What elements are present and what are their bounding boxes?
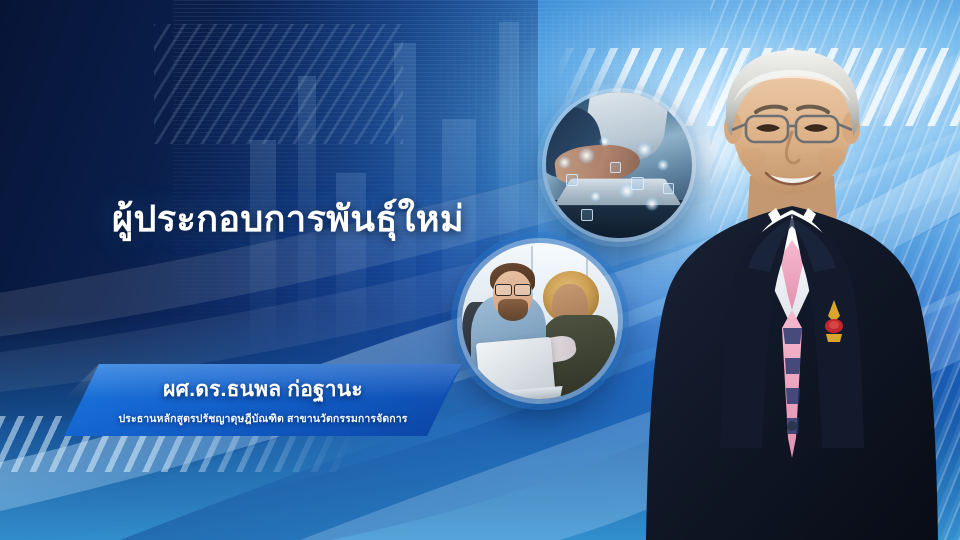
diagonal-stripes-top-left bbox=[154, 24, 404, 144]
speaker-name-banner: ผศ.ดร.ธนพล ก่อฐานะ ประธานหลักสูตรปรัชญาด… bbox=[64, 364, 462, 436]
eyeglasses-icon bbox=[495, 284, 531, 295]
team-photo bbox=[462, 243, 618, 399]
presentation-slide: ผู้ประกอบการพันธุ์ใหม่ bbox=[0, 0, 960, 540]
photo-circle-team bbox=[462, 243, 618, 399]
man-beard bbox=[498, 299, 528, 321]
page-title: ผู้ประกอบการพันธุ์ใหม่ bbox=[112, 196, 464, 241]
speaker-role: ประธานหลักสูตรปรัชญาดุษฎีบัณฑิต สาขานวัต… bbox=[119, 410, 408, 427]
speaker-name: ผศ.ดร.ธนพล ก่อฐานะ bbox=[163, 373, 363, 406]
laptop-device bbox=[475, 337, 554, 396]
speaker-portrait bbox=[642, 28, 942, 540]
